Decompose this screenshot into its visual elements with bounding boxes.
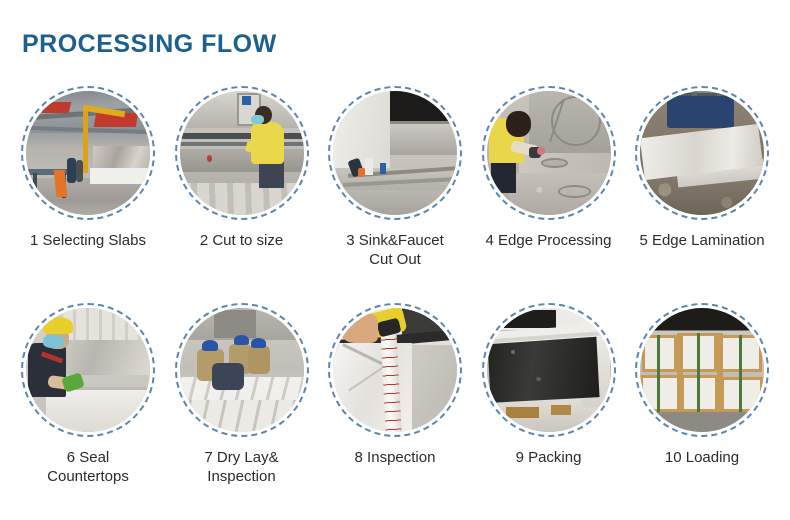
process-step-8[interactable]: 8 Inspection bbox=[325, 303, 465, 486]
dashed-ring-icon bbox=[635, 86, 769, 220]
dashed-ring-icon bbox=[21, 303, 155, 437]
step-3-thumbnail[interactable] bbox=[328, 86, 462, 220]
dashed-ring-icon bbox=[21, 86, 155, 220]
step-7-label: 7 Dry Lay& Inspection bbox=[167, 448, 317, 486]
step-1-label: 1 Selecting Slabs bbox=[13, 231, 163, 250]
step-10-label: 10 Loading bbox=[627, 448, 777, 467]
step-5-label: 5 Edge Lamination bbox=[627, 231, 777, 250]
process-step-6[interactable]: 6 Seal Countertops bbox=[18, 303, 158, 486]
step-8-label: 8 Inspection bbox=[320, 448, 470, 467]
dashed-ring-icon bbox=[175, 86, 309, 220]
dashed-ring-icon bbox=[482, 86, 616, 220]
process-step-4[interactable]: 4 Edge Processing bbox=[479, 86, 619, 269]
step-8-thumbnail[interactable] bbox=[328, 303, 462, 437]
step-3-label: 3 Sink&Faucet Cut Out bbox=[320, 231, 470, 269]
step-2-thumbnail[interactable] bbox=[175, 86, 309, 220]
process-step-9[interactable]: 9 Packing bbox=[479, 303, 619, 486]
process-step-1[interactable]: 1 Selecting Slabs bbox=[18, 86, 158, 269]
step-4-thumbnail[interactable] bbox=[482, 86, 616, 220]
step-6-thumbnail[interactable] bbox=[21, 303, 155, 437]
dashed-ring-icon bbox=[482, 303, 616, 437]
step-7-thumbnail[interactable] bbox=[175, 303, 309, 437]
dashed-ring-icon bbox=[635, 303, 769, 437]
step-6-label: 6 Seal Countertops bbox=[13, 448, 163, 486]
process-step-3[interactable]: 3 Sink&Faucet Cut Out bbox=[325, 86, 465, 269]
step-9-thumbnail[interactable] bbox=[482, 303, 616, 437]
process-step-7[interactable]: 7 Dry Lay& Inspection bbox=[172, 303, 312, 486]
page-title: PROCESSING FLOW bbox=[22, 30, 277, 59]
step-10-thumbnail[interactable] bbox=[635, 303, 769, 437]
step-9-label: 9 Packing bbox=[474, 448, 624, 467]
step-2-label: 2 Cut to size bbox=[167, 231, 317, 250]
process-row-2: 6 Seal Countertops 7 Dry Lay& Inspection bbox=[0, 303, 790, 486]
process-step-2[interactable]: 2 Cut to size bbox=[172, 86, 312, 269]
step-5-thumbnail[interactable] bbox=[635, 86, 769, 220]
dashed-ring-icon bbox=[328, 86, 462, 220]
dashed-ring-icon bbox=[328, 303, 462, 437]
processing-flow-page: PROCESSING FLOW 1 Selecting bbox=[0, 0, 790, 520]
process-row-1: 1 Selecting Slabs 2 Cut to size bbox=[0, 86, 790, 269]
process-step-10[interactable]: 10 Loading bbox=[632, 303, 772, 486]
dashed-ring-icon bbox=[175, 303, 309, 437]
process-step-5[interactable]: 5 Edge Lamination bbox=[632, 86, 772, 269]
step-1-thumbnail[interactable] bbox=[21, 86, 155, 220]
step-4-label: 4 Edge Processing bbox=[474, 231, 624, 250]
